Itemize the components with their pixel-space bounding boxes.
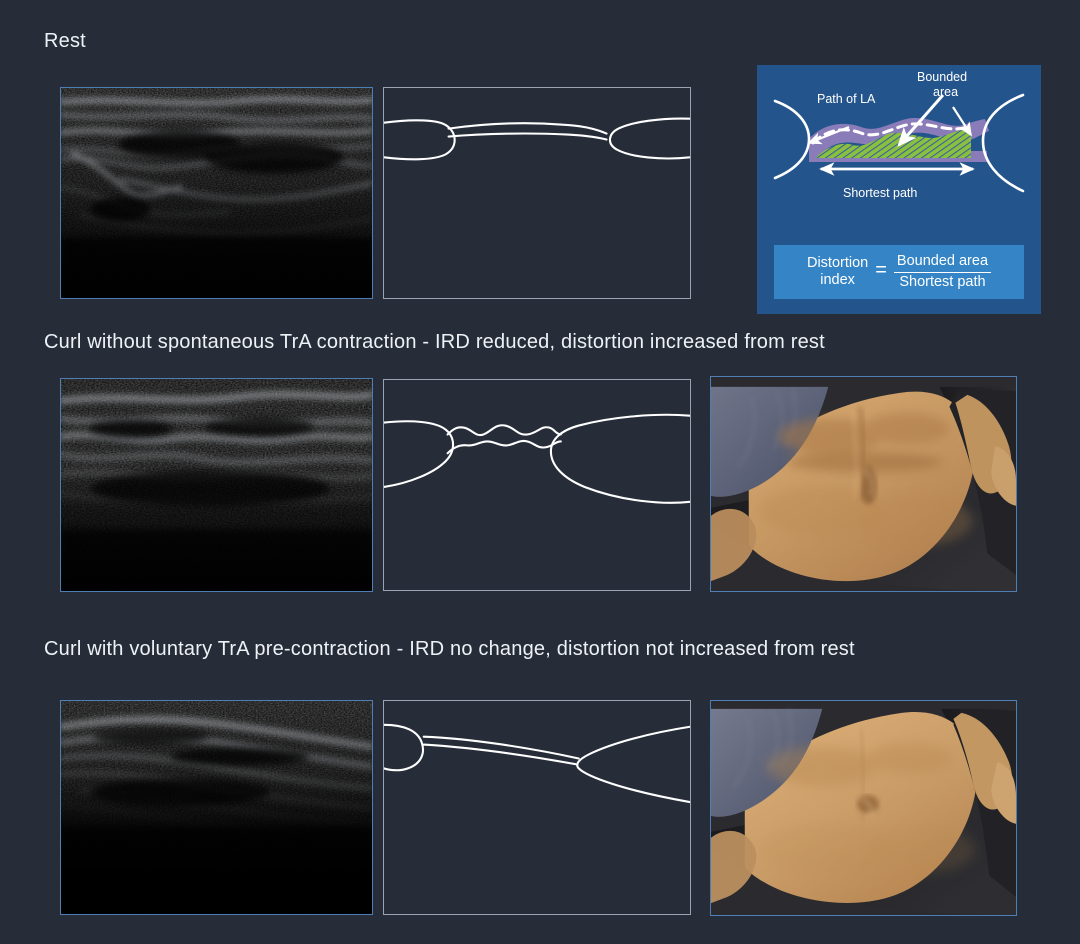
ultrasound-image-rest — [60, 87, 373, 299]
distortion-index-diagram: Path of LA Bounded area Shortest path — [757, 65, 1041, 243]
row-label-curl-without: Curl without spontaneous TrA contraction… — [44, 331, 825, 354]
label-path-of-la: Path of LA — [817, 92, 876, 106]
row-label-curl-with: Curl with voluntary TrA pre-contraction … — [44, 638, 855, 661]
label-shortest-path: Shortest path — [843, 186, 917, 200]
abdomen-photo-render-curl-without — [711, 377, 1016, 591]
ultrasound-image-curl-with — [60, 700, 373, 915]
formula-numerator: Bounded area — [894, 253, 991, 271]
line-drawing-curl-without — [383, 379, 691, 591]
formula-left-line2: index — [807, 272, 868, 289]
line-drawing-render-curl-without — [384, 380, 690, 590]
formula-fraction: Bounded area Shortest path — [894, 253, 991, 291]
row-label-rest: Rest — [44, 30, 86, 53]
info-box-distortion-index: Path of LA Bounded area Shortest path Di… — [757, 65, 1041, 314]
formula-denominator: Shortest path — [894, 272, 991, 291]
distortion-index-formula: Distortion index = Bounded area Shortest… — [774, 245, 1024, 299]
line-drawing-render-rest — [384, 88, 690, 298]
abdomen-photo-curl-without — [710, 376, 1017, 592]
ultrasound-render-rest — [61, 88, 372, 299]
ultrasound-image-curl-without — [60, 378, 373, 592]
ultrasound-render-curl-with — [61, 701, 372, 915]
label-bounded-area-line2: area — [933, 85, 958, 99]
line-drawing-rest — [383, 87, 691, 299]
abdomen-photo-render-curl-with — [711, 701, 1016, 915]
formula-left-term: Distortion index — [807, 255, 868, 288]
ultrasound-render-curl-without — [61, 379, 372, 592]
formula-left-line1: Distortion — [807, 255, 868, 272]
line-drawing-curl-with — [383, 700, 691, 915]
abdomen-photo-curl-with — [710, 700, 1017, 916]
formula-equals-sign: = — [875, 259, 887, 285]
line-drawing-render-curl-with — [384, 701, 690, 914]
label-bounded-area-line1: Bounded — [917, 70, 967, 84]
